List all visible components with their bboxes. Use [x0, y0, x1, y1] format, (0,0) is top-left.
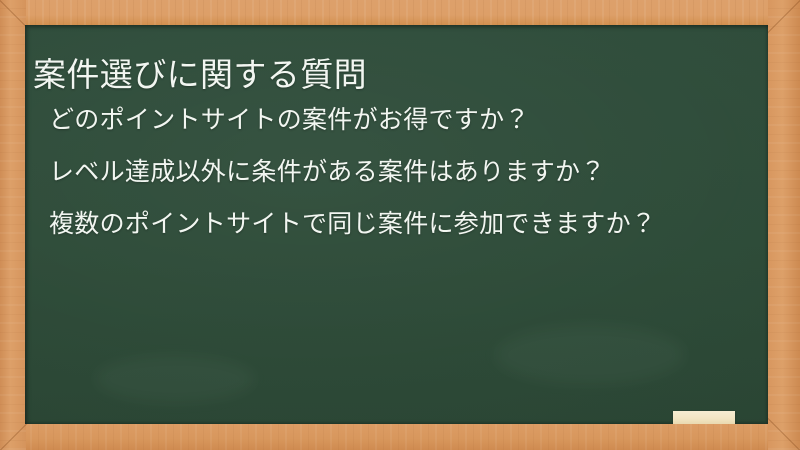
- frame-plank-top: [0, 0, 800, 25]
- chalk-eraser: [673, 411, 735, 424]
- list-item: どのポイントサイトの案件がお得ですか？: [49, 100, 749, 140]
- page-title: 案件選びに関する質問: [33, 53, 753, 97]
- frame-plank-right: [768, 0, 800, 450]
- chalk-dust-smudge: [95, 355, 255, 403]
- chalk-dust-smudge: [495, 325, 685, 385]
- chalkboard-surface: 案件選びに関する質問 どのポイントサイトの案件がお得ですか？ レベル達成以外に条…: [25, 25, 768, 424]
- chalkboard-slide: 案件選びに関する質問 どのポイントサイトの案件がお得ですか？ レベル達成以外に条…: [0, 0, 800, 450]
- question-list: どのポイントサイトの案件がお得ですか？ レベル達成以外に条件がある案件はあります…: [49, 100, 749, 244]
- frame-plank-bottom: [0, 424, 800, 450]
- list-item: 複数のポイントサイトで同じ案件に参加できますか？: [49, 204, 749, 244]
- frame-plank-left: [0, 0, 26, 450]
- list-item: レベル達成以外に条件がある案件はありますか？: [49, 152, 749, 192]
